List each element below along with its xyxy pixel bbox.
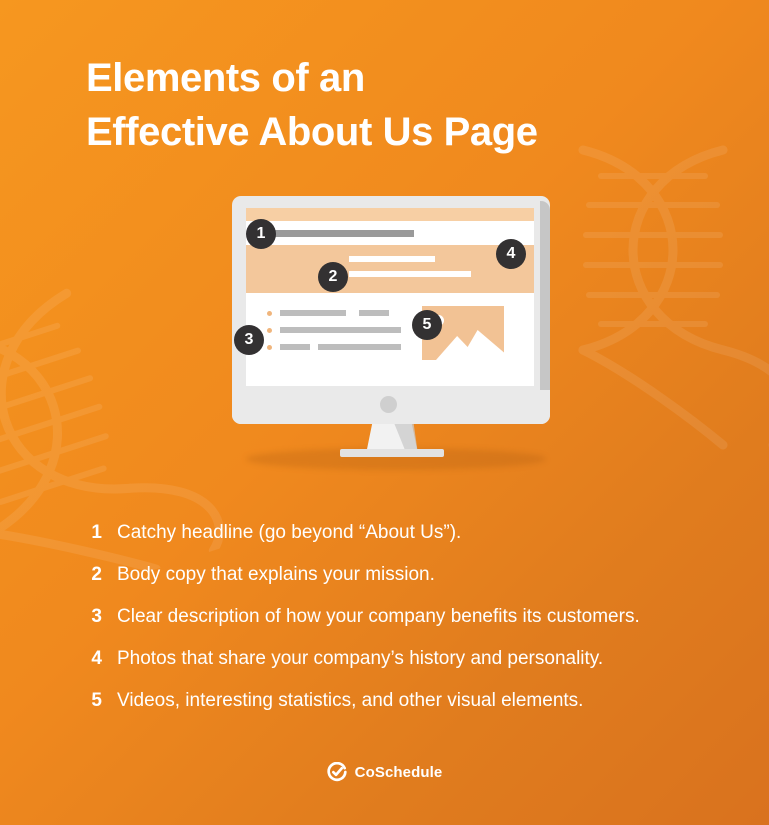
- list-item-label: Body copy that explains your mission.: [117, 564, 435, 586]
- list-item-number: 1: [86, 522, 102, 544]
- list-item-label: Catchy headline (go beyond “About Us”).: [117, 522, 461, 544]
- screen-text-bar: [280, 327, 401, 333]
- list-item-number: 4: [86, 648, 102, 670]
- screen-hero-line-2: [349, 271, 471, 277]
- list-item-number: 5: [86, 690, 102, 712]
- list-item-number: 2: [86, 564, 102, 586]
- list-item: 4 Photos that share your company’s histo…: [86, 648, 706, 670]
- elements-list: 1 Catchy headline (go beyond “About Us”)…: [86, 522, 706, 732]
- callout-badge-1: 1: [246, 219, 276, 249]
- monitor-stand-foot: [340, 449, 444, 457]
- callout-badge-5: 5: [412, 310, 442, 340]
- list-item: 2 Body copy that explains your mission.: [86, 564, 706, 586]
- callout-badge-3: 3: [234, 325, 264, 355]
- screen-header-band: [246, 208, 534, 221]
- monitor-screen: [246, 208, 534, 386]
- list-item-label: Clear description of how your company be…: [117, 606, 640, 628]
- infographic-poster: Elements of an Effective About Us Page: [0, 0, 769, 825]
- screen-text-bar: [280, 310, 346, 316]
- list-item-label: Photos that share your company’s history…: [117, 648, 603, 670]
- screen-text-bar: [318, 344, 401, 350]
- screen-headline-bar: [266, 230, 414, 237]
- list-item: 5 Videos, interesting statistics, and ot…: [86, 690, 706, 712]
- screen-text-bar: [280, 344, 310, 350]
- monitor-power-dot: [380, 396, 397, 413]
- dna-helix-watermark-right: [573, 120, 769, 450]
- list-item-number: 3: [86, 606, 102, 628]
- screen-bullet-dot: [267, 328, 272, 333]
- list-item: 3 Clear description of how your company …: [86, 606, 706, 628]
- screen-hero-band: [246, 245, 534, 293]
- list-item: 1 Catchy headline (go beyond “About Us”)…: [86, 522, 706, 544]
- callout-badge-4: 4: [496, 239, 526, 269]
- screen-bullet-dot: [267, 345, 272, 350]
- brand-name: CoSchedule: [355, 764, 443, 781]
- callout-badge-2: 2: [318, 262, 348, 292]
- screen-text-bar: [359, 310, 389, 316]
- page-title: Elements of an Effective About Us Page: [86, 52, 538, 159]
- screen-bullet-dot: [267, 311, 272, 316]
- footer-branding: CoSchedule: [0, 762, 769, 782]
- monitor-right-edge: [540, 201, 550, 421]
- screen-hero-line-1: [349, 256, 435, 262]
- list-item-label: Videos, interesting statistics, and othe…: [117, 690, 583, 712]
- coschedule-check-circle-icon: [327, 762, 347, 782]
